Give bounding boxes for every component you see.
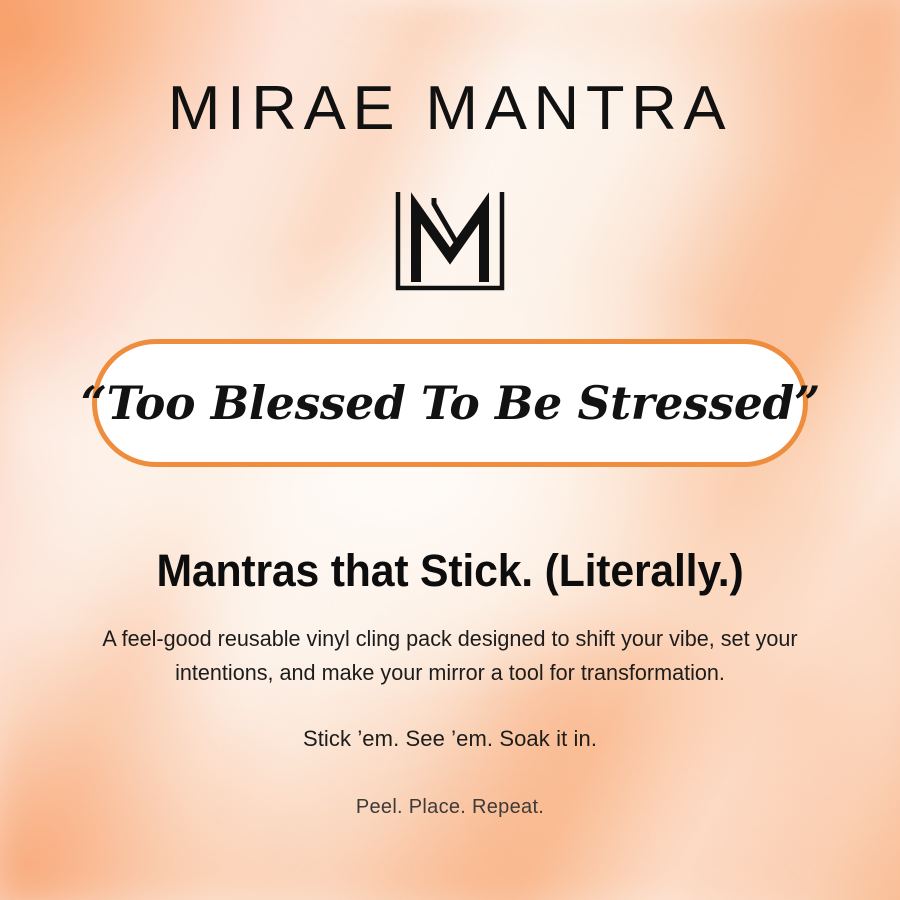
brand-title: MIRAE MANTRA bbox=[0, 78, 900, 140]
quote-badge: “Too Blessed To Be Stressed” bbox=[92, 339, 808, 467]
poster-content: MIRAE MANTRA “Too Blessed To Be Stressed… bbox=[0, 0, 900, 900]
tagline-primary: Stick ’em. See ’em. Soak it in. bbox=[0, 726, 900, 752]
poster-canvas: MIRAE MANTRA “Too Blessed To Be Stressed… bbox=[0, 0, 900, 900]
tagline-secondary: Peel. Place. Repeat. bbox=[0, 796, 900, 819]
quote-badge-text: “Too Blessed To Be Stressed” bbox=[80, 376, 819, 430]
monogram-m-bracket-icon bbox=[392, 190, 508, 294]
body-copy: A feel-good reusable vinyl cling pack de… bbox=[95, 622, 805, 690]
headline: Mantras that Stick. (Literally.) bbox=[23, 546, 878, 596]
